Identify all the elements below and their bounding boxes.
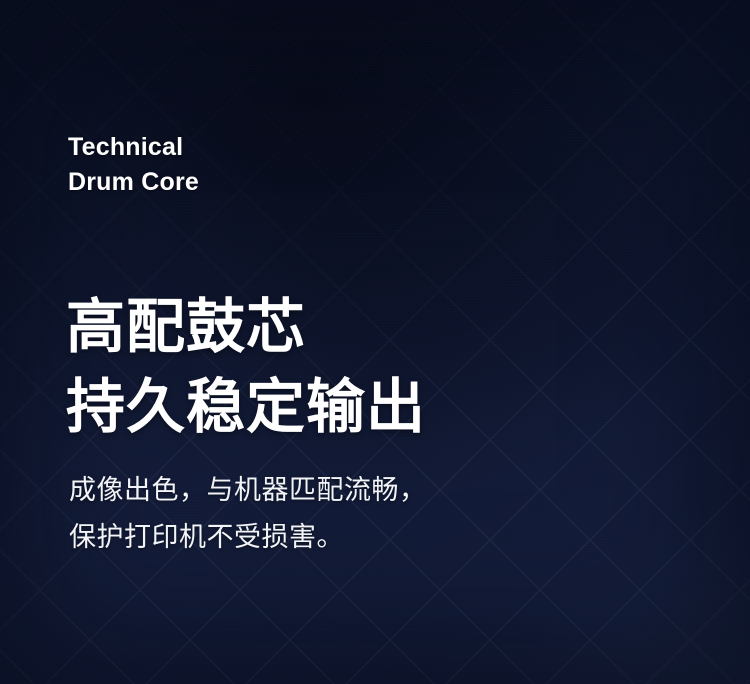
banner-content: Technical Drum Core 高配鼓芯 持久稳定输出 成像出色，与机器… — [68, 0, 708, 684]
headline-text: 高配鼓芯 持久稳定输出 — [66, 287, 426, 447]
eyebrow-text: Technical Drum Core — [68, 130, 199, 200]
promo-banner: Technical Drum Core 高配鼓芯 持久稳定输出 成像出色，与机器… — [0, 0, 750, 684]
body-text: 成像出色，与机器匹配流畅， 保护打印机不受损害。 — [69, 467, 427, 561]
